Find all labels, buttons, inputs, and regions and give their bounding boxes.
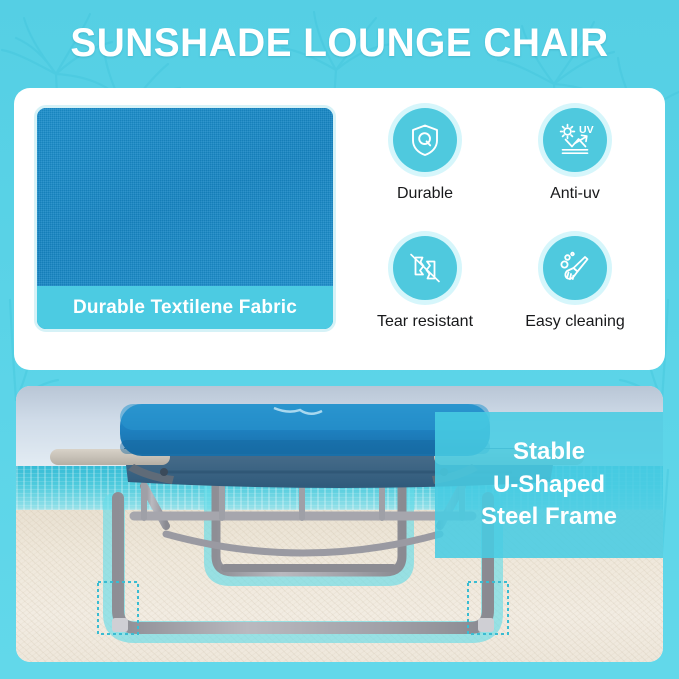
shield-quality-icon <box>406 121 444 159</box>
fabric-caption-text: Durable Textilene Fabric <box>73 297 297 319</box>
page-title: SUNSHADE LOUNGE CHAIR <box>70 23 608 63</box>
textilene-fabric-texture <box>37 108 333 292</box>
fabric-caption-bar: Durable Textilene Fabric <box>37 286 333 329</box>
uv-protection-icon: UV <box>555 120 595 160</box>
no-tear-fabric-icon <box>406 249 444 287</box>
feature-item-easy-cleaning[interactable]: Easy cleaning <box>500 230 650 358</box>
feature-icon-circle <box>393 108 457 172</box>
feature-icon-circle <box>393 236 457 300</box>
feature-icon-circle: UV <box>543 108 607 172</box>
cleaning-brush-icon <box>556 249 594 287</box>
frame-caption-overlay: Stable U-Shaped Steel Frame <box>435 412 663 558</box>
frame-caption-line-1: Stable <box>513 437 585 468</box>
feature-grid: Durable UV <box>350 102 650 358</box>
frame-caption-line-3: Steel Frame <box>481 502 617 533</box>
feature-item-durable[interactable]: Durable <box>350 102 500 230</box>
product-photo-panel: Stable U-Shaped Steel Frame <box>16 386 663 662</box>
frame-caption-line-2: U-Shaped <box>493 470 605 501</box>
product-infographic-poster: SUNSHADE LOUNGE CHAIR Durable Textilene … <box>0 0 679 679</box>
feature-label: Durable <box>397 185 453 203</box>
feature-label: Tear resistant <box>377 313 473 331</box>
feature-label: Easy cleaning <box>525 313 625 331</box>
feature-item-anti-uv[interactable]: UV Anti-uv <box>500 102 650 230</box>
features-card: Durable Textilene Fabric Durable <box>14 88 665 370</box>
fabric-swatch: Durable Textilene Fabric <box>34 105 336 332</box>
poster-title-bar: SUNSHADE LOUNGE CHAIR <box>0 0 679 86</box>
feature-item-tear-resistant[interactable]: Tear resistant <box>350 230 500 358</box>
feature-label: Anti-uv <box>550 185 600 203</box>
svg-text:UV: UV <box>579 124 594 136</box>
feature-icon-circle <box>543 236 607 300</box>
